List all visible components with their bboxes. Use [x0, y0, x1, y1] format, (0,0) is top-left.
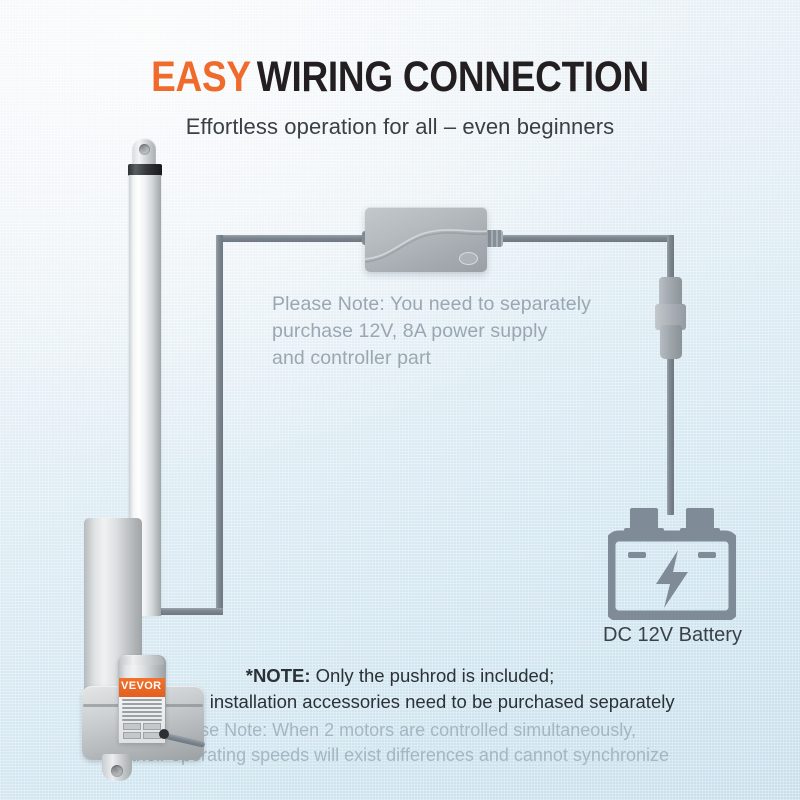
- mid-note: Please Note: You need to separately purc…: [272, 291, 632, 372]
- rod-end-mount-hole: [139, 144, 150, 155]
- lightning-bolt-icon: [656, 550, 688, 608]
- spec-text-lines: [122, 699, 162, 723]
- mid-note-line-3: and controller part: [272, 345, 632, 372]
- motor-end-cap: [120, 656, 164, 665]
- power-supply-brick: [365, 207, 487, 272]
- brand-label: VEVOR: [119, 678, 165, 697]
- base-mount-hole: [111, 765, 123, 777]
- power-led-indicator: [459, 252, 478, 265]
- primary-note-bold: *NOTE:: [246, 665, 311, 686]
- battery-icon-svg: [608, 508, 736, 620]
- spec-sticker: [119, 697, 165, 743]
- battery-icon: [608, 508, 736, 620]
- battery-label: DC 12V Battery: [555, 624, 790, 647]
- mid-note-line-2: purchase 12V, 8A power supply: [272, 318, 632, 345]
- page-subtitle: Effortless operation for all – even begi…: [0, 113, 800, 141]
- page-title-rest: WIRING CONNECTION: [251, 53, 649, 101]
- mid-note-line-1: Please Note: You need to separately: [272, 291, 632, 318]
- page-title: EASYWIRING CONNECTION: [56, 53, 744, 101]
- spec-barcode-grid: [123, 723, 161, 739]
- wire-brick-to-right: [492, 235, 674, 242]
- linear-actuator: VEVOR: [50, 138, 230, 668]
- barrel-connector-bottom: [660, 325, 682, 359]
- wire-brick-to-left: [216, 235, 366, 242]
- brand-name: VEVOR: [121, 680, 162, 692]
- page-title-accent: EASY: [151, 53, 251, 101]
- primary-note-line-1-rest: Only the pushrod is included;: [311, 665, 555, 686]
- infographic-canvas: EASYWIRING CONNECTION Effortless operati…: [0, 0, 800, 800]
- motor-lead-grommet: [159, 729, 169, 739]
